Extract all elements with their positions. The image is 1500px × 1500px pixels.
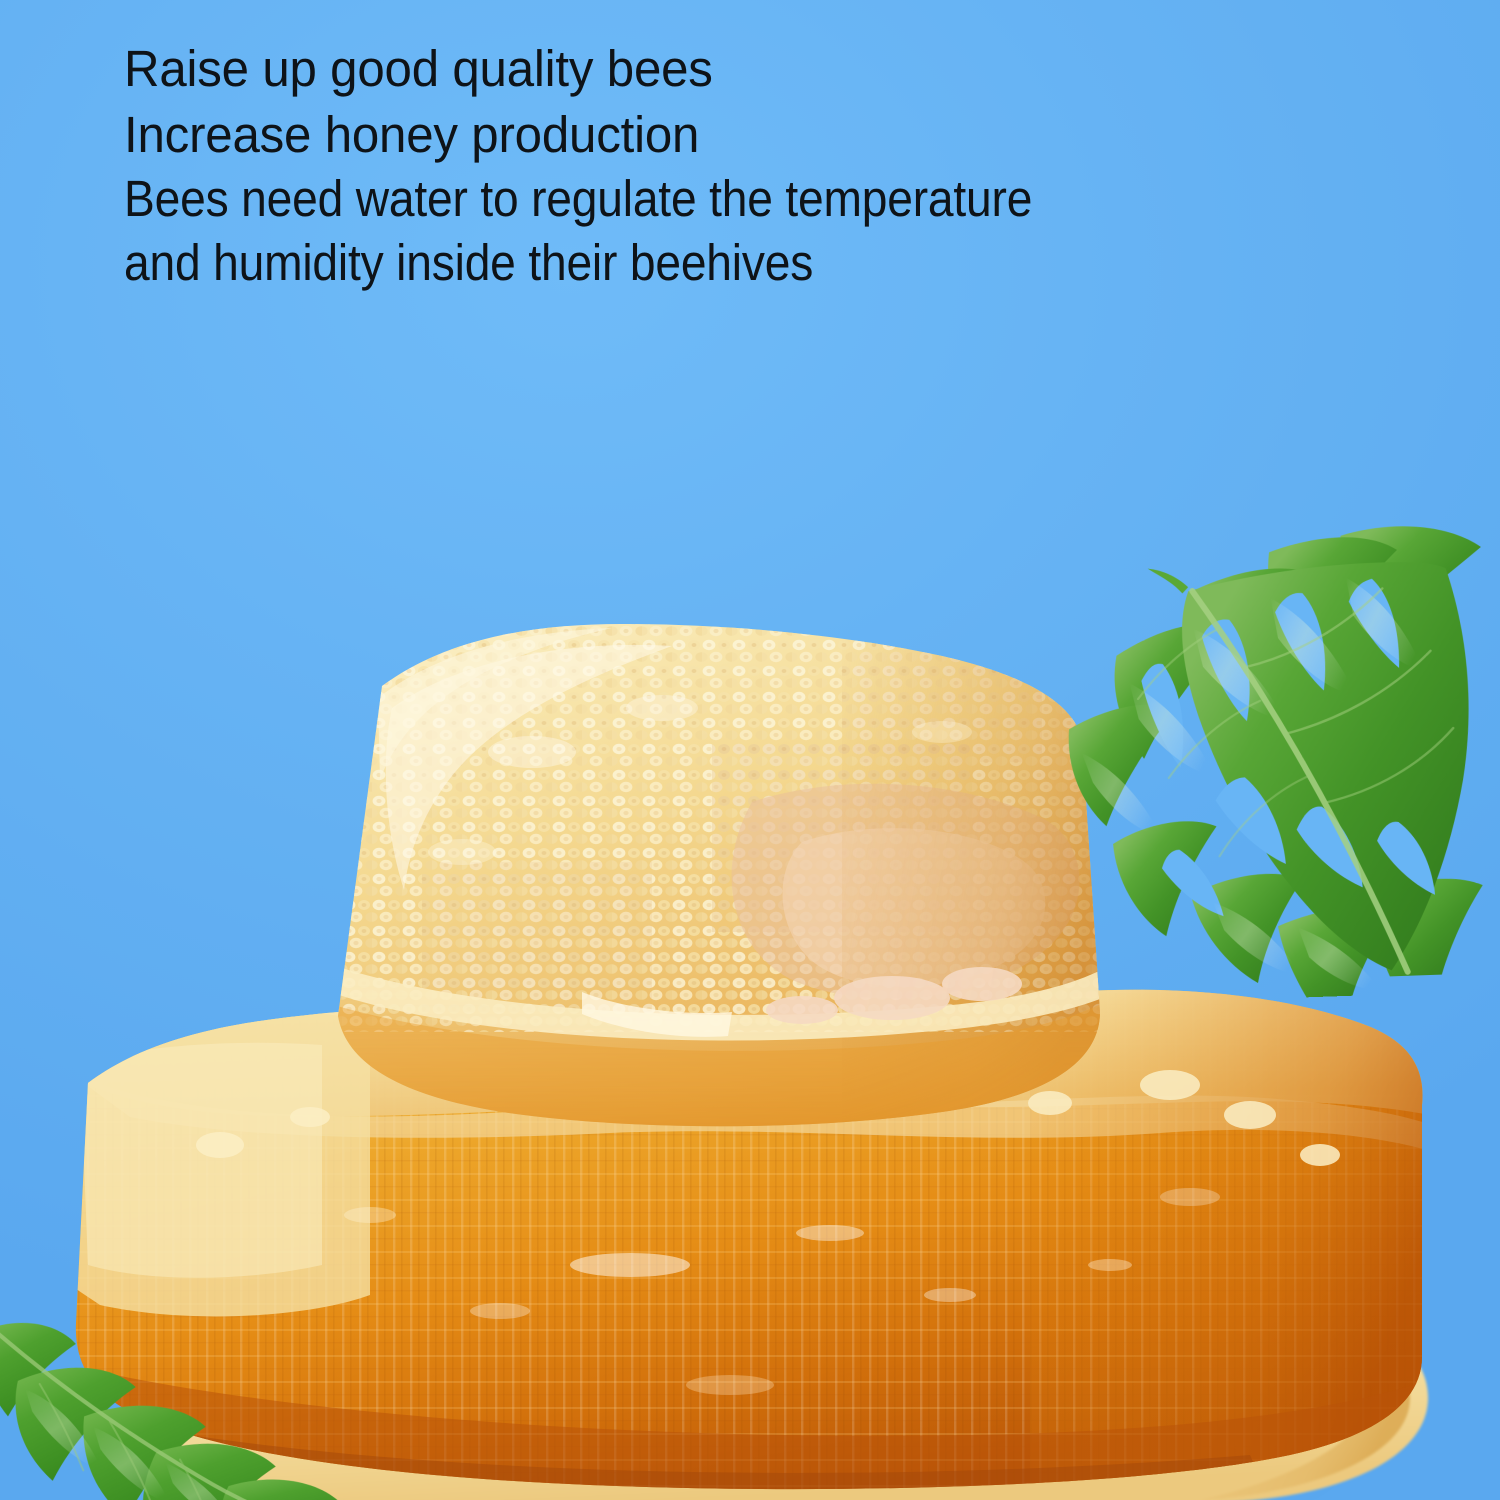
comb-upper (282, 612, 1112, 1142)
banner-canvas: Raise up good quality bees Increase hone… (0, 0, 1500, 1500)
caption-line-1: Raise up good quality bees (124, 36, 1340, 102)
monstera-leaf-top-right (1040, 500, 1500, 1006)
caption-line-4: and humidity inside their beehives (124, 231, 1264, 295)
monstera-leaf-bottom-left (0, 1295, 412, 1500)
caption-block: Raise up good quality bees Increase hone… (124, 36, 1384, 295)
caption-line-2: Increase honey production (124, 102, 1340, 167)
caption-line-3: Bees need water to regulate the temperat… (124, 167, 1264, 231)
